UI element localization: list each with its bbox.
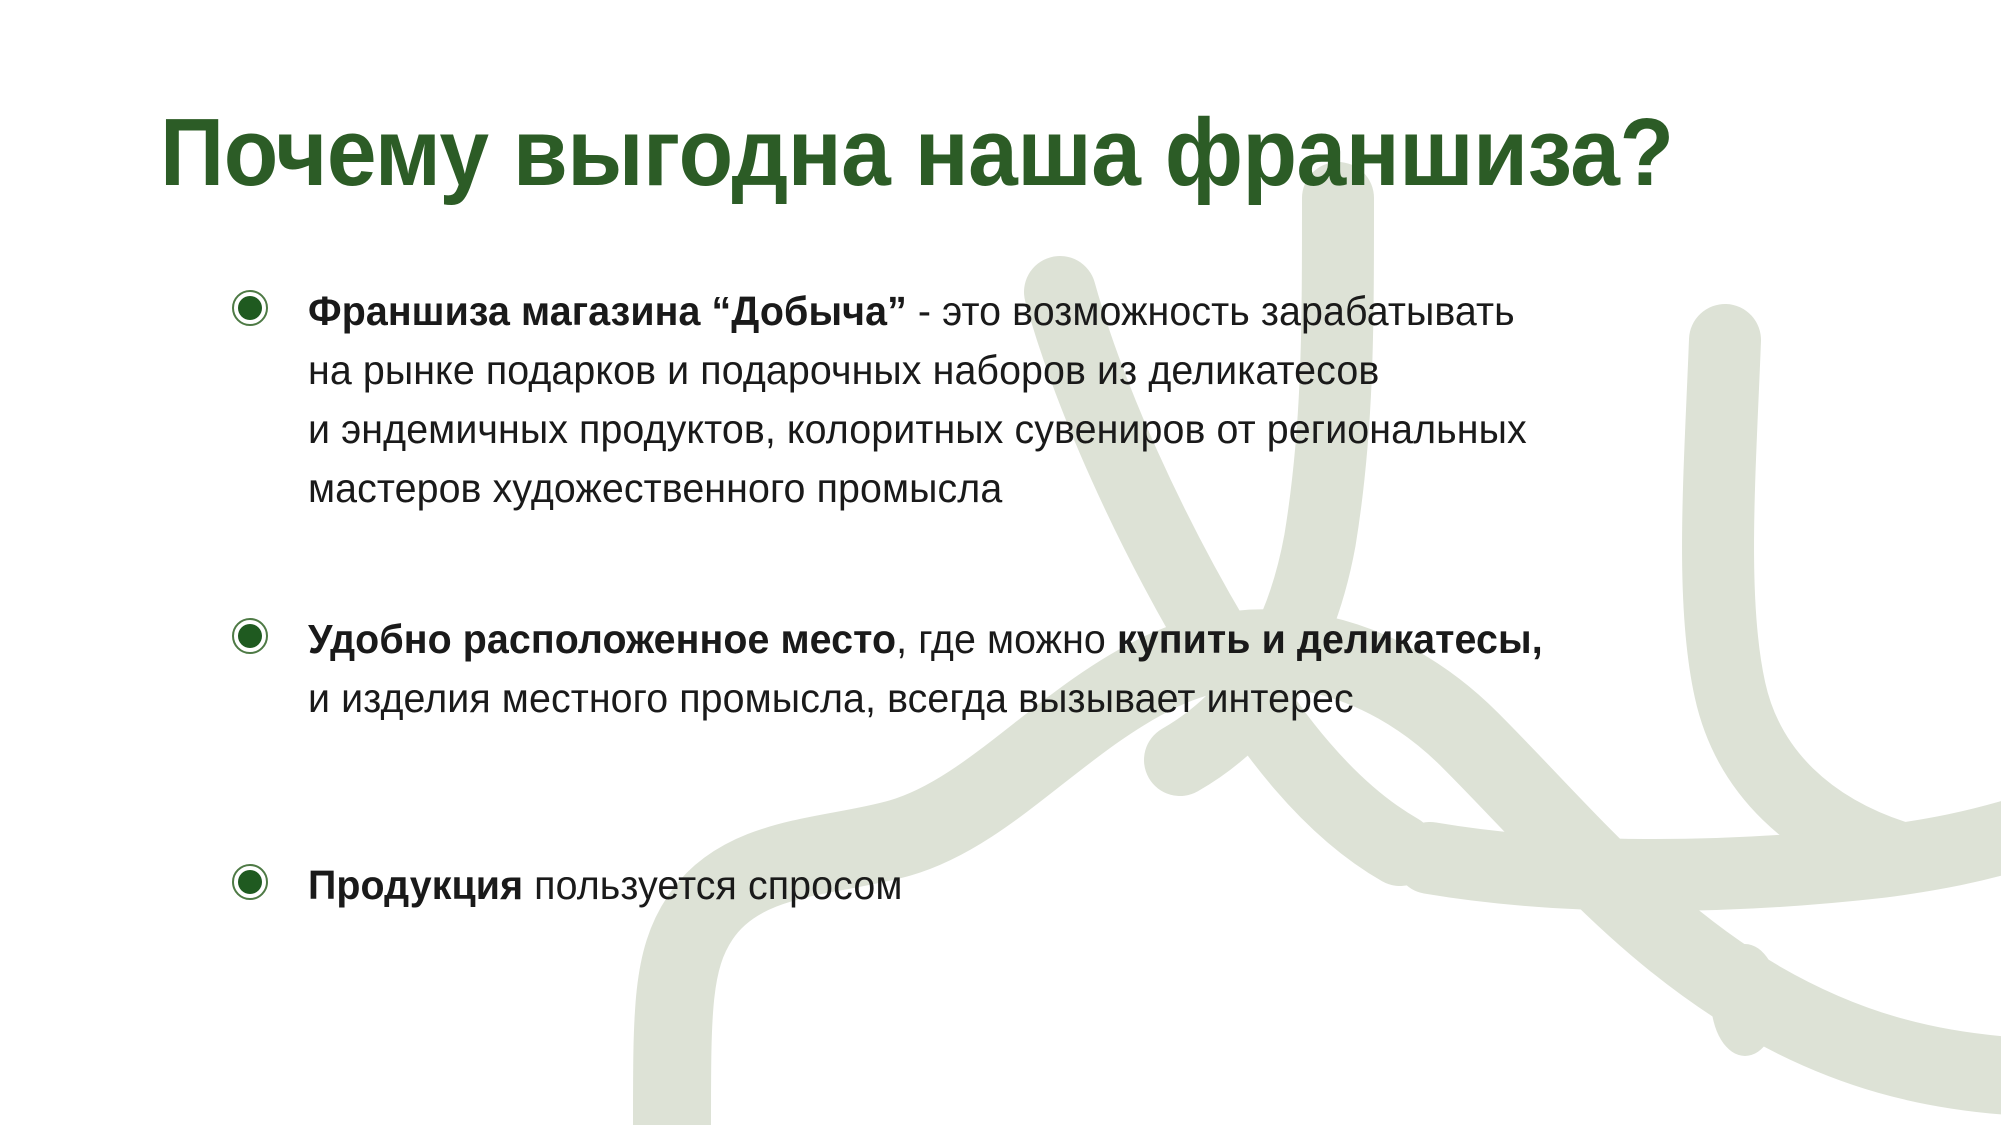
list-item-text: Продукция пользуется спросом [308,856,1809,915]
bullet-circle-icon [232,618,272,658]
list-item: Франшиза магазина “Добыча” - это возможн… [232,282,1872,518]
list-item-emphasis: купить и деликатесы, [1117,616,1543,662]
list-item-body: пользуется спросом [523,862,902,908]
list-item: Продукция пользуется спросом [232,856,1872,915]
page-title: Почему выгодна наша франшиза? [160,102,1674,204]
list-item-lead: Удобно расположенное место [308,616,896,662]
list-item: Удобно расположенное место, где можно ку… [232,610,1872,728]
list-item-text: Франшиза магазина “Добыча” - это возможн… [308,282,1809,518]
bullet-circle-icon [232,290,272,330]
slide-canvas: Почему выгодна наша франшиза? Франшиза м… [0,0,2001,1125]
list-item-body: на рынке подарков и подарочных наборов и… [308,341,1809,400]
list-item-body: и эндемичных продуктов, колоритных сувен… [308,400,1809,459]
list-item-lead: Франшиза магазина “Добыча” [308,288,907,334]
list-item-body: - это возможность зарабатывать [907,288,1515,334]
list-item-lead: Продукция [308,862,523,908]
list-item-text: Удобно расположенное место, где можно ку… [308,610,1809,728]
list-item-body: и изделия местного промысла, всегда вызы… [308,669,1809,728]
list-item-body: , где можно [896,616,1117,662]
bullet-circle-icon [232,864,272,904]
oval-leaf-icon [1711,944,1779,1056]
bullet-list: Франшиза магазина “Добыча” - это возможн… [232,282,1872,915]
list-item-body: мастеров художественного промысла [308,459,1809,518]
